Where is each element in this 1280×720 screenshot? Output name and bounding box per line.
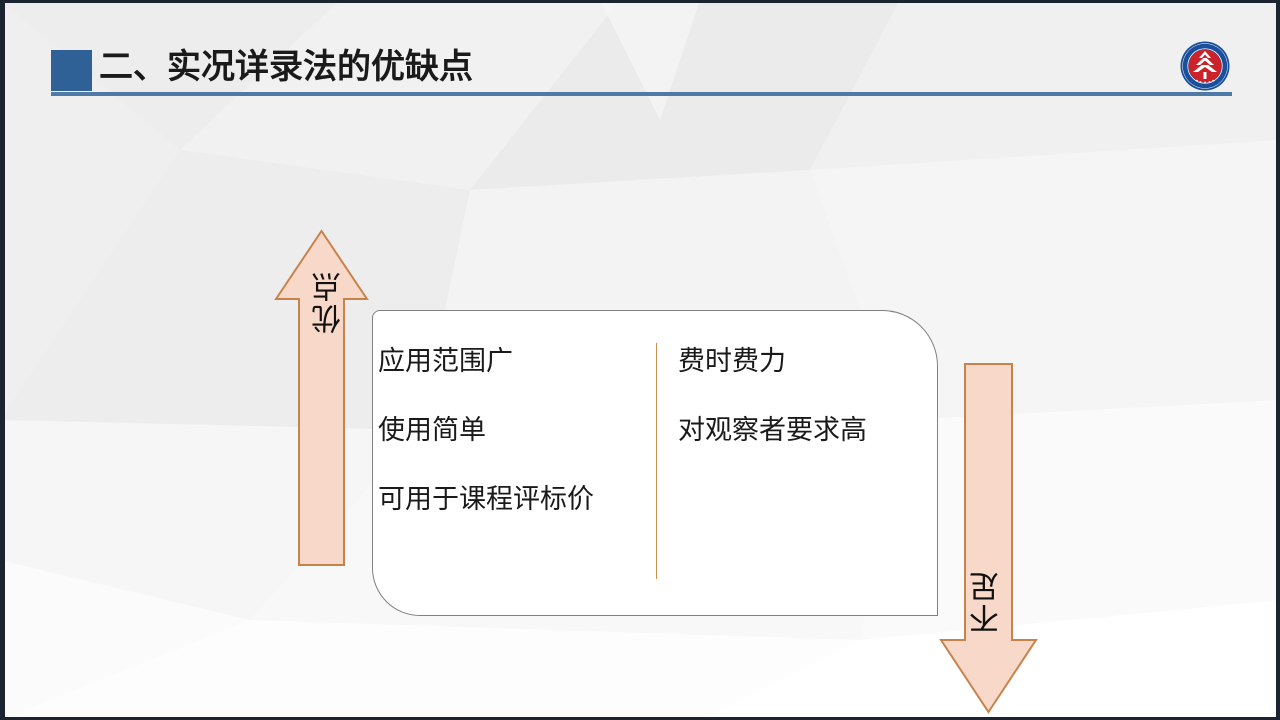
down-arrow-label: 不足 <box>966 570 1010 634</box>
title-square-marker <box>51 50 92 91</box>
card-column-divider <box>656 343 657 579</box>
title-underline-rule <box>51 92 1232 96</box>
shortcomings-column: 费时费力 对观察者要求高 <box>678 345 930 483</box>
university-logo-icon <box>1180 41 1230 91</box>
list-item: 费时费力 <box>678 345 930 379</box>
list-item: 使用简单 <box>378 414 648 448</box>
advantages-column: 应用范围广 使用简单 可用于课程评标价 <box>378 345 648 552</box>
list-item: 应用范围广 <box>378 345 648 379</box>
page-title: 二、实况详录法的优缺点 <box>99 44 473 90</box>
slide-edge-top <box>0 0 1280 3</box>
slide-canvas: 二、实况详录法的优缺点 优点 不足 <box>0 0 1280 720</box>
list-item: 可用于课程评标价 <box>378 483 648 517</box>
slide-edge-right <box>1276 0 1280 720</box>
up-arrow-label: 优点 <box>308 270 352 334</box>
slide-edge-left <box>0 0 5 720</box>
down-arrow-shortcomings <box>939 362 1038 714</box>
list-item: 对观察者要求高 <box>678 414 930 448</box>
